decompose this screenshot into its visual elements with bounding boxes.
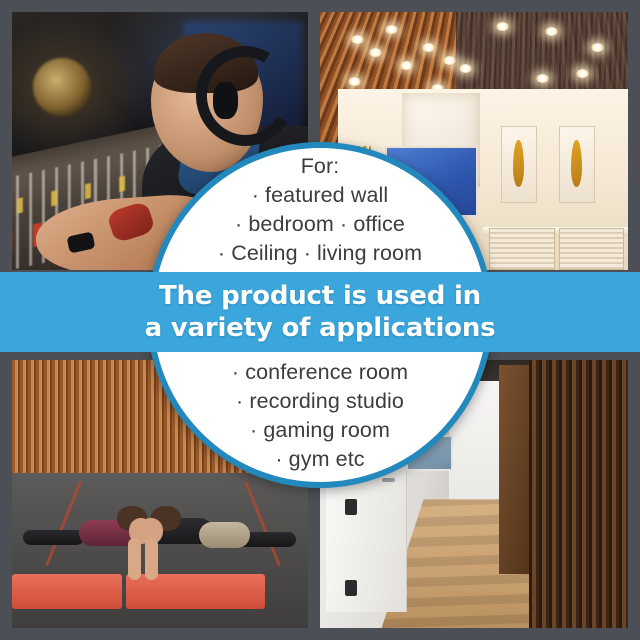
ceiling-spotlight [536,74,549,83]
ceiling-spotlight [422,43,435,52]
ceiling-spotlight [400,61,413,70]
ceiling-spotlight [443,56,456,65]
headline-banner: The product is used in a variety of appl… [0,272,640,352]
ceiling-spotlight [385,25,398,34]
headline-line-2: a variety of applications [145,312,496,344]
ceiling-spotlight [496,22,509,31]
person-planking-left [30,510,148,580]
person-planking-right [142,510,284,580]
person-hips [199,522,250,548]
engineer-headphone-cup [213,82,238,119]
person-arm [128,538,141,580]
wall-outlet [345,580,357,596]
decor-panel [559,126,596,204]
studio-gold-record [33,58,91,116]
headline-banner-text: The product is used in a variety of appl… [145,280,496,344]
headline-line-1: The product is used in [145,280,496,312]
wall-switch [345,499,357,515]
louvered-cabinet [559,228,625,270]
ceiling-spotlight [459,64,472,73]
hallway-slat-feature-wall [529,360,628,628]
poster-canvas: For: · featured wall · bedroom · office … [0,0,640,640]
door-handle [382,478,395,482]
ceiling-spotlight [576,69,589,78]
ceiling-spotlight [348,77,361,86]
person-arm [145,538,158,580]
decor-leaf [571,140,581,187]
decor-panel [501,126,538,204]
decor-leaf [513,140,523,187]
person-legs [23,530,85,545]
ceiling-spotlight [591,43,604,52]
louvered-cabinet [489,228,555,270]
